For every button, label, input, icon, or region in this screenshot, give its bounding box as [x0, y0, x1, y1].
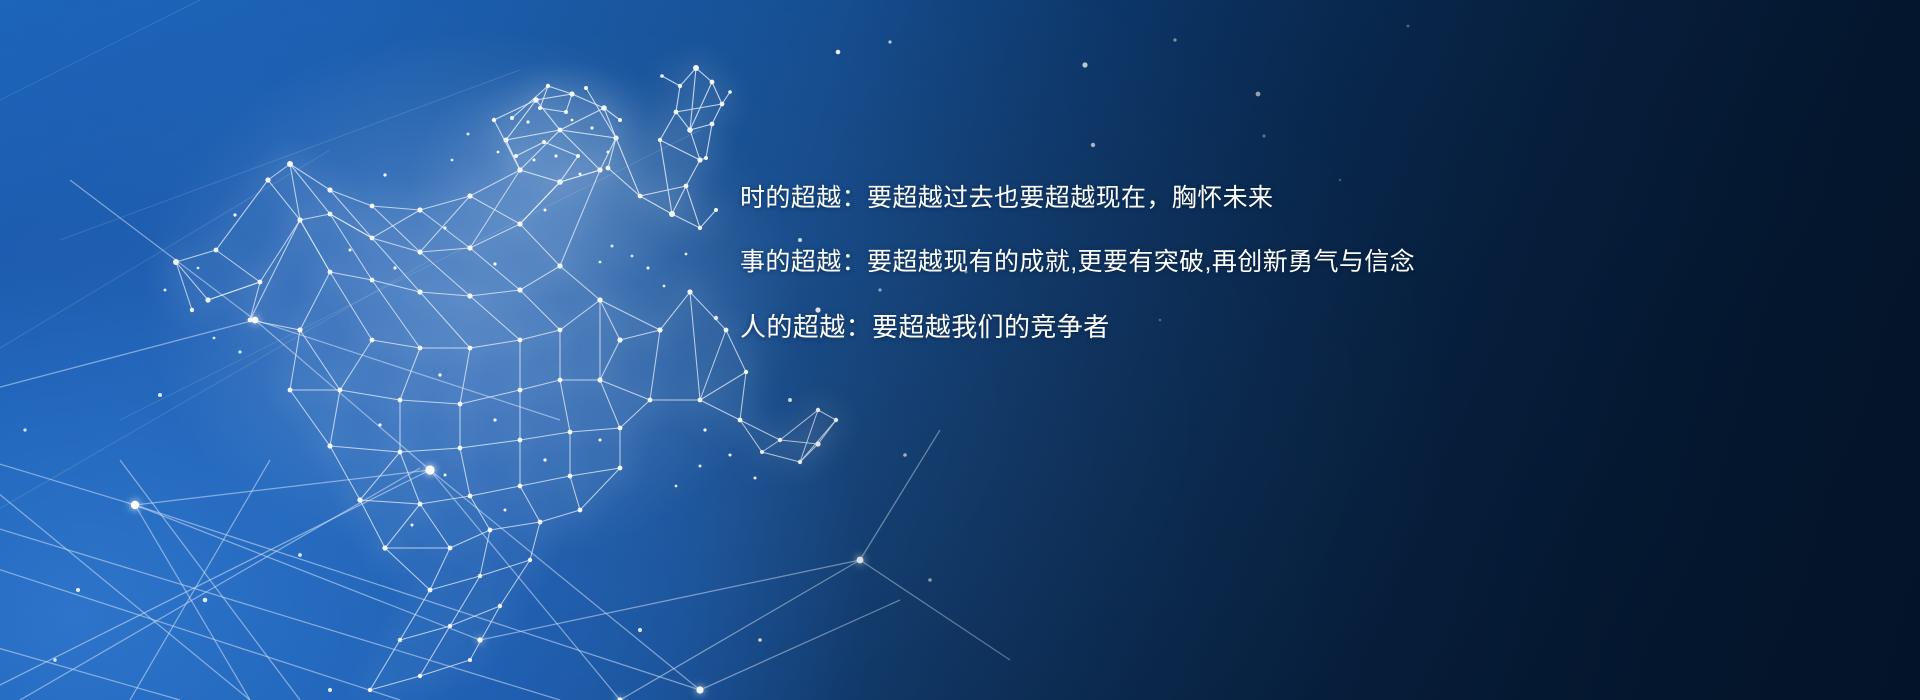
- vignette-overlay: [0, 0, 1920, 700]
- slogan-text-block: 时的超越：要超越过去也要超越现在，胸怀未来 事的超越：要超越现有的成就,更要有突…: [740, 186, 1500, 340]
- hero-banner: 时的超越：要超越过去也要超越现在，胸怀未来 事的超越：要超越现有的成就,更要有突…: [0, 0, 1920, 700]
- slogan-line-matter: 事的超越：要超越现有的成就,更要有突破,再创新勇气与信念: [740, 250, 1500, 275]
- slogan-line-people: 人的超越：要超越我们的竞争者: [740, 314, 1500, 340]
- slogan-line-time: 时的超越：要超越过去也要超越现在，胸怀未来: [740, 186, 1500, 211]
